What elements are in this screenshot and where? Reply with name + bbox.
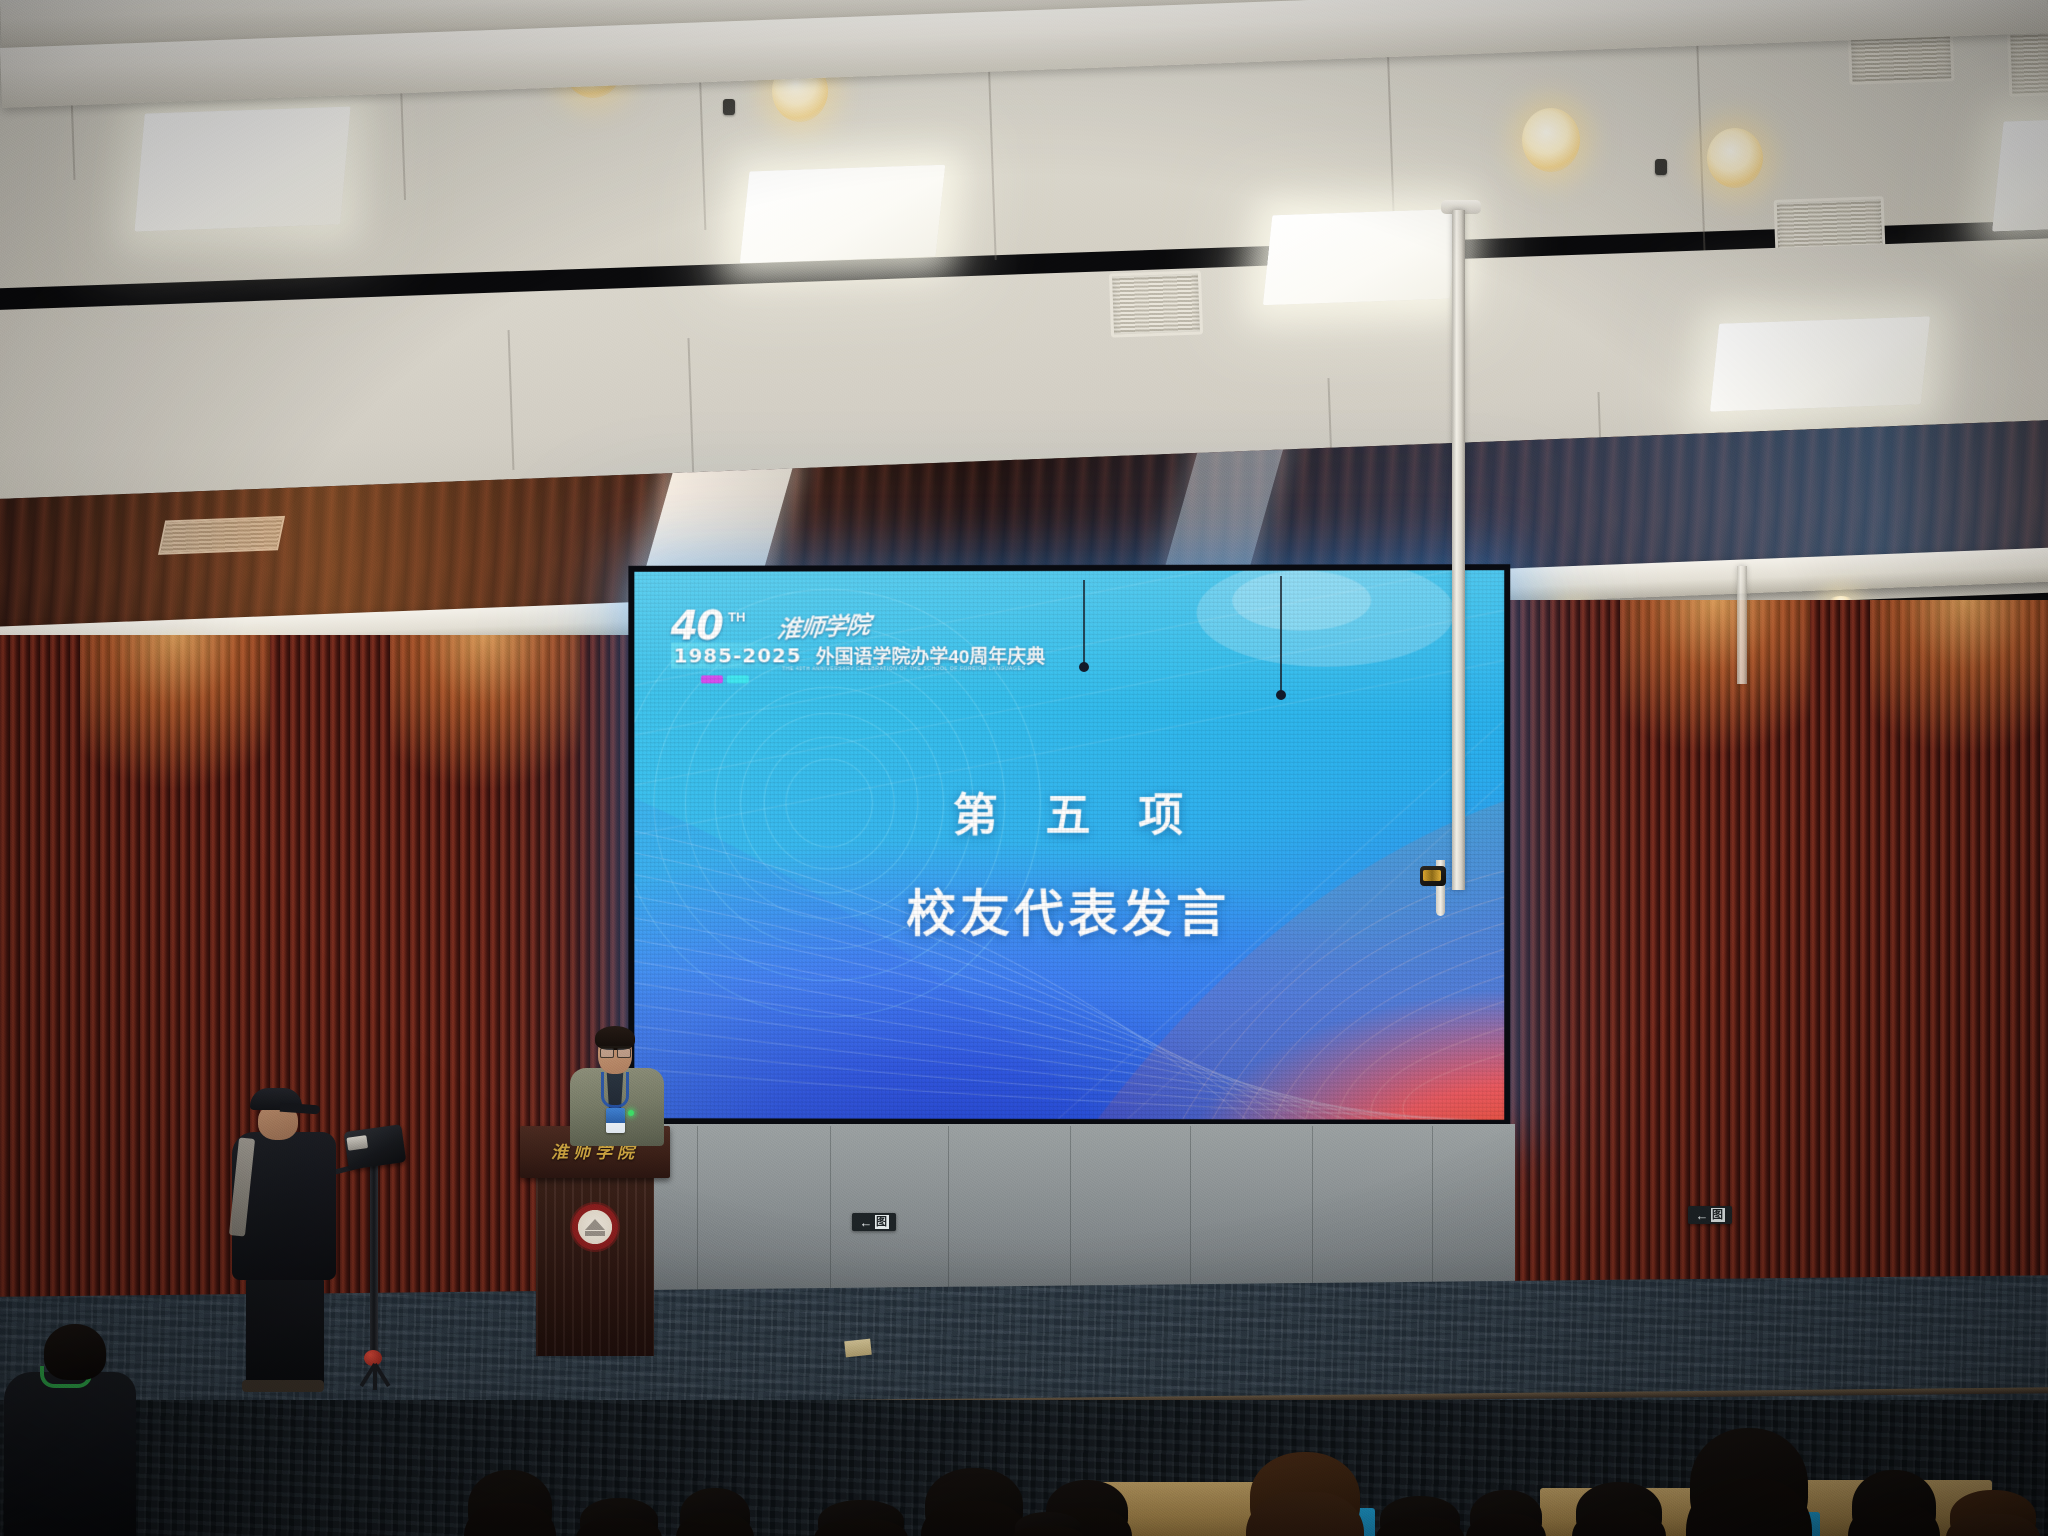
audience-head [468, 1470, 552, 1536]
tripod-leg [373, 1364, 377, 1390]
speaker-at-podium [556, 1018, 676, 1143]
panel-seam [948, 1126, 949, 1290]
logo-year-range: 1985-2025 [671, 642, 808, 668]
smoke-detector [1655, 159, 1667, 175]
exit-arrow-icon: ← [1696, 1209, 1709, 1222]
audience-head [925, 1468, 1023, 1536]
ceiling-downlight [1522, 108, 1580, 172]
logo-color-chips [700, 674, 1191, 683]
cctv-camera [1420, 866, 1446, 886]
agenda-item-number: 第 五 项 [650, 779, 1504, 844]
logo-top-row: 40 TH 淮师学院 [671, 606, 1192, 644]
ceiling-downlight [1707, 128, 1763, 188]
panel-seam [1432, 1126, 1433, 1290]
podium-body [536, 1176, 654, 1356]
panel-seam [830, 1126, 831, 1290]
panel-seam [1312, 1126, 1313, 1290]
smoke-detector [723, 99, 735, 115]
speaker-badge-led-icon [628, 1110, 634, 1116]
wall-light-glow [390, 635, 580, 965]
tripod-pole [370, 1162, 378, 1362]
attendee-head [44, 1324, 106, 1380]
ceiling-panel-light [1263, 209, 1459, 305]
logo-chip-magenta [700, 675, 722, 683]
stage-lower-wall [635, 1124, 1515, 1292]
exit-sign-left: ← 图 [852, 1213, 896, 1231]
baffle-vent [158, 516, 285, 555]
logo-english-subtitle: THE 40TH ANNIVERSARY CELEBRATION OF THE … [782, 665, 1191, 671]
logo-chip-cyan [726, 675, 748, 683]
speaker-lanyard [601, 1072, 629, 1108]
crest-inner [580, 1212, 610, 1242]
ceiling-panel-light [1710, 316, 1930, 411]
videographer [228, 1088, 358, 1388]
agenda-item-name: 校友代表发言 [634, 874, 1504, 946]
exit-sign-right: ← 图 [1688, 1206, 1732, 1224]
hanging-wire-weight [1079, 662, 1089, 672]
hanging-wire [1083, 580, 1085, 666]
ceiling-support-pole [1452, 210, 1465, 890]
panel-seam [1070, 1126, 1071, 1290]
hanging-wire [1280, 576, 1282, 694]
ceiling-panel-light [134, 106, 350, 231]
panel-seam [1190, 1126, 1191, 1290]
exit-glyph-icon: 图 [1711, 1208, 1725, 1222]
videographer-legs [246, 1276, 324, 1386]
logo-calligraphy: 淮师学院 [775, 605, 870, 645]
audience-head [1015, 1512, 1081, 1536]
led-screen-surface: 40 TH 淮师学院 1985-2025 外国语学院办学40周年庆典 THE 4… [634, 570, 1504, 1120]
led-stage-screen: 40 TH 淮师学院 1985-2025 外国语学院办学40周年庆典 THE 4… [628, 564, 1510, 1126]
cctv-lens [1423, 870, 1441, 881]
hanging-wire-weight [1276, 690, 1286, 700]
wall-slats-right [1500, 600, 2048, 1300]
panel-seam [697, 1126, 698, 1290]
wall-light-glow [1620, 600, 1810, 930]
audience-head [818, 1500, 904, 1536]
logo-number: 40 [671, 608, 722, 644]
audience-head [1950, 1490, 2036, 1536]
anniversary-logo: 40 TH 淮师学院 1985-2025 外国语学院办学40周年庆典 THE 4… [671, 606, 1192, 683]
audience-head [1576, 1482, 1662, 1536]
auditorium-photo: 40 TH 淮师学院 1985-2025 外国语学院办学40周年庆典 THE 4… [0, 0, 2048, 1536]
floor-paper-scrap [844, 1339, 872, 1358]
audience-head [1690, 1428, 1808, 1536]
attendee-jacket [4, 1372, 136, 1536]
audience-head [1380, 1496, 1460, 1536]
wall-light-glow [80, 635, 270, 965]
audience-head [580, 1498, 658, 1536]
exit-glyph-icon: 图 [875, 1215, 889, 1229]
audience-head [1852, 1470, 1936, 1536]
audience-head [1470, 1490, 1542, 1536]
exit-arrow-icon: ← [860, 1216, 873, 1229]
university-crest-icon [572, 1204, 618, 1250]
ceiling-panel-light [740, 165, 946, 264]
screen-title-block: 第 五 项 校友代表发言 [634, 779, 1504, 946]
wall-pole-right [1737, 566, 1747, 684]
glasses-icon [600, 1046, 631, 1054]
logo-ordinal: TH [728, 609, 745, 624]
hvac-vent [1109, 270, 1203, 337]
audience-head [680, 1488, 750, 1536]
standing-attendee-left [0, 1328, 150, 1536]
audience-head [1250, 1452, 1360, 1536]
speaking-podium: 淮师学院 [520, 1126, 670, 1356]
shoe [280, 1380, 324, 1392]
speaker-badge [606, 1108, 625, 1133]
wall-light-glow [1870, 600, 2048, 930]
